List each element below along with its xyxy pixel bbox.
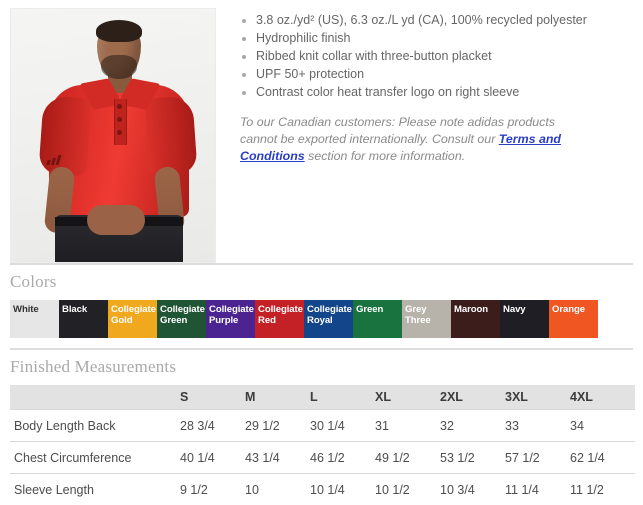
list-item: 3.8 oz./yd² (US), 6.3 oz./L yd (CA), 100…	[240, 12, 637, 29]
color-swatch-collegiate-gold[interactable]: Collegiate Gold	[108, 300, 157, 338]
color-swatch-collegiate-royal[interactable]: Collegiate Royal	[304, 300, 353, 338]
color-swatch-row: White Black Collegiate Gold Collegiate G…	[10, 300, 643, 338]
table-row: Sleeve Length 9 1/2 10 10 1/4 10 1/2 10 …	[10, 474, 635, 505]
product-photo[interactable]	[10, 8, 216, 263]
bullet-icon	[242, 91, 246, 95]
color-swatch-grey-three[interactable]: Grey Three	[402, 300, 451, 338]
row-label: Chest Circumference	[10, 442, 180, 474]
column-header-s: S	[180, 385, 245, 410]
feature-text: Ribbed knit collar with three-button pla…	[256, 49, 492, 63]
swatch-label: Collegiate Royal	[307, 304, 352, 326]
swatch-label: Collegiate Green	[160, 304, 205, 326]
measurements-heading: Finished Measurements	[10, 357, 643, 377]
list-item: Ribbed knit collar with three-button pla…	[240, 48, 637, 65]
table-row: Chest Circumference 40 1/4 43 1/4 46 1/2…	[10, 442, 635, 474]
colors-section-divider	[10, 263, 633, 265]
swatch-label: Collegiate Gold	[111, 304, 156, 326]
placket-button-2	[117, 117, 122, 122]
list-item: Hydrophilic finish	[240, 30, 637, 47]
cell-3xl: 11 1/4	[505, 474, 570, 505]
color-swatch-collegiate-green[interactable]: Collegiate Green	[157, 300, 206, 338]
color-swatch-collegiate-red[interactable]: Collegiate Red	[255, 300, 304, 338]
cell-s: 40 1/4	[180, 442, 245, 474]
feature-text: Contrast color heat transfer logo on rig…	[256, 85, 519, 99]
cell-l: 10 1/4	[310, 474, 375, 505]
color-swatch-navy[interactable]: Navy	[500, 300, 549, 338]
product-overview: 3.8 oz./yd² (US), 6.3 oz./L yd (CA), 100…	[0, 0, 643, 263]
bullet-icon	[242, 37, 246, 41]
row-label: Body Length Back	[10, 410, 180, 442]
bullet-icon	[242, 73, 246, 77]
cell-m: 10	[245, 474, 310, 505]
list-item: UPF 50+ protection	[240, 66, 637, 83]
product-details: 3.8 oz./yd² (US), 6.3 oz./L yd (CA), 100…	[216, 8, 643, 177]
swatch-label: Collegiate Purple	[209, 304, 254, 326]
model-hands	[87, 205, 145, 235]
column-header-2xl: 2XL	[440, 385, 505, 410]
cell-xl: 49 1/2	[375, 442, 440, 474]
cell-4xl: 34	[570, 410, 635, 442]
column-header-3xl: 3XL	[505, 385, 570, 410]
canadian-customers-note: To our Canadian customers: Please note a…	[240, 114, 570, 165]
color-swatch-collegiate-purple[interactable]: Collegiate Purple	[206, 300, 255, 338]
cell-4xl: 11 1/2	[570, 474, 635, 505]
table-header-row: S M L XL 2XL 3XL 4XL	[10, 385, 635, 410]
column-header-m: M	[245, 385, 310, 410]
cell-3xl: 33	[505, 410, 570, 442]
color-swatch-orange[interactable]: Orange	[549, 300, 598, 338]
color-swatch-white[interactable]: White	[10, 300, 59, 338]
cell-m: 43 1/4	[245, 442, 310, 474]
column-header-l: L	[310, 385, 375, 410]
cell-l: 46 1/2	[310, 442, 375, 474]
polo-sleeve-right	[144, 95, 197, 176]
bullet-icon	[242, 55, 246, 59]
color-swatch-maroon[interactable]: Maroon	[451, 300, 500, 338]
finished-measurements-table: S M L XL 2XL 3XL 4XL Body Length Back 28…	[10, 385, 635, 505]
cell-xl: 31	[375, 410, 440, 442]
cell-4xl: 62 1/4	[570, 442, 635, 474]
cell-l: 30 1/4	[310, 410, 375, 442]
cell-2xl: 10 3/4	[440, 474, 505, 505]
table-row: Body Length Back 28 3/4 29 1/2 30 1/4 31…	[10, 410, 635, 442]
swatch-label: White	[13, 304, 58, 315]
color-swatch-black[interactable]: Black	[59, 300, 108, 338]
swatch-label: Navy	[503, 304, 548, 315]
feature-list: 3.8 oz./yd² (US), 6.3 oz./L yd (CA), 100…	[240, 12, 637, 101]
cell-s: 9 1/2	[180, 474, 245, 505]
column-header-4xl: 4XL	[570, 385, 635, 410]
swatch-label: Collegiate Red	[258, 304, 303, 326]
placket-button-1	[117, 104, 122, 109]
cell-xl: 10 1/2	[375, 474, 440, 505]
placket-button-3	[117, 130, 122, 135]
swatch-label: Green	[356, 304, 401, 315]
row-label: Sleeve Length	[10, 474, 180, 505]
cell-3xl: 57 1/2	[505, 442, 570, 474]
cell-2xl: 32	[440, 410, 505, 442]
swatch-label: Black	[62, 304, 107, 315]
measurements-section-divider	[10, 348, 633, 350]
swatch-label: Grey Three	[405, 304, 450, 326]
column-header-blank	[10, 385, 180, 410]
note-text-after: section for more information.	[305, 149, 465, 163]
model-hair	[96, 20, 142, 42]
swatch-label: Orange	[552, 304, 597, 315]
model-beard	[101, 55, 137, 79]
list-item: Contrast color heat transfer logo on rig…	[240, 84, 637, 101]
swatch-label: Maroon	[454, 304, 499, 315]
feature-text: 3.8 oz./yd² (US), 6.3 oz./L yd (CA), 100…	[256, 13, 587, 27]
color-swatch-green[interactable]: Green	[353, 300, 402, 338]
feature-text: Hydrophilic finish	[256, 31, 350, 45]
colors-heading: Colors	[10, 272, 643, 292]
cell-2xl: 53 1/2	[440, 442, 505, 474]
feature-text: UPF 50+ protection	[256, 67, 364, 81]
adidas-logo-icon	[47, 155, 61, 165]
cell-m: 29 1/2	[245, 410, 310, 442]
column-header-xl: XL	[375, 385, 440, 410]
bullet-icon	[242, 19, 246, 23]
cell-s: 28 3/4	[180, 410, 245, 442]
